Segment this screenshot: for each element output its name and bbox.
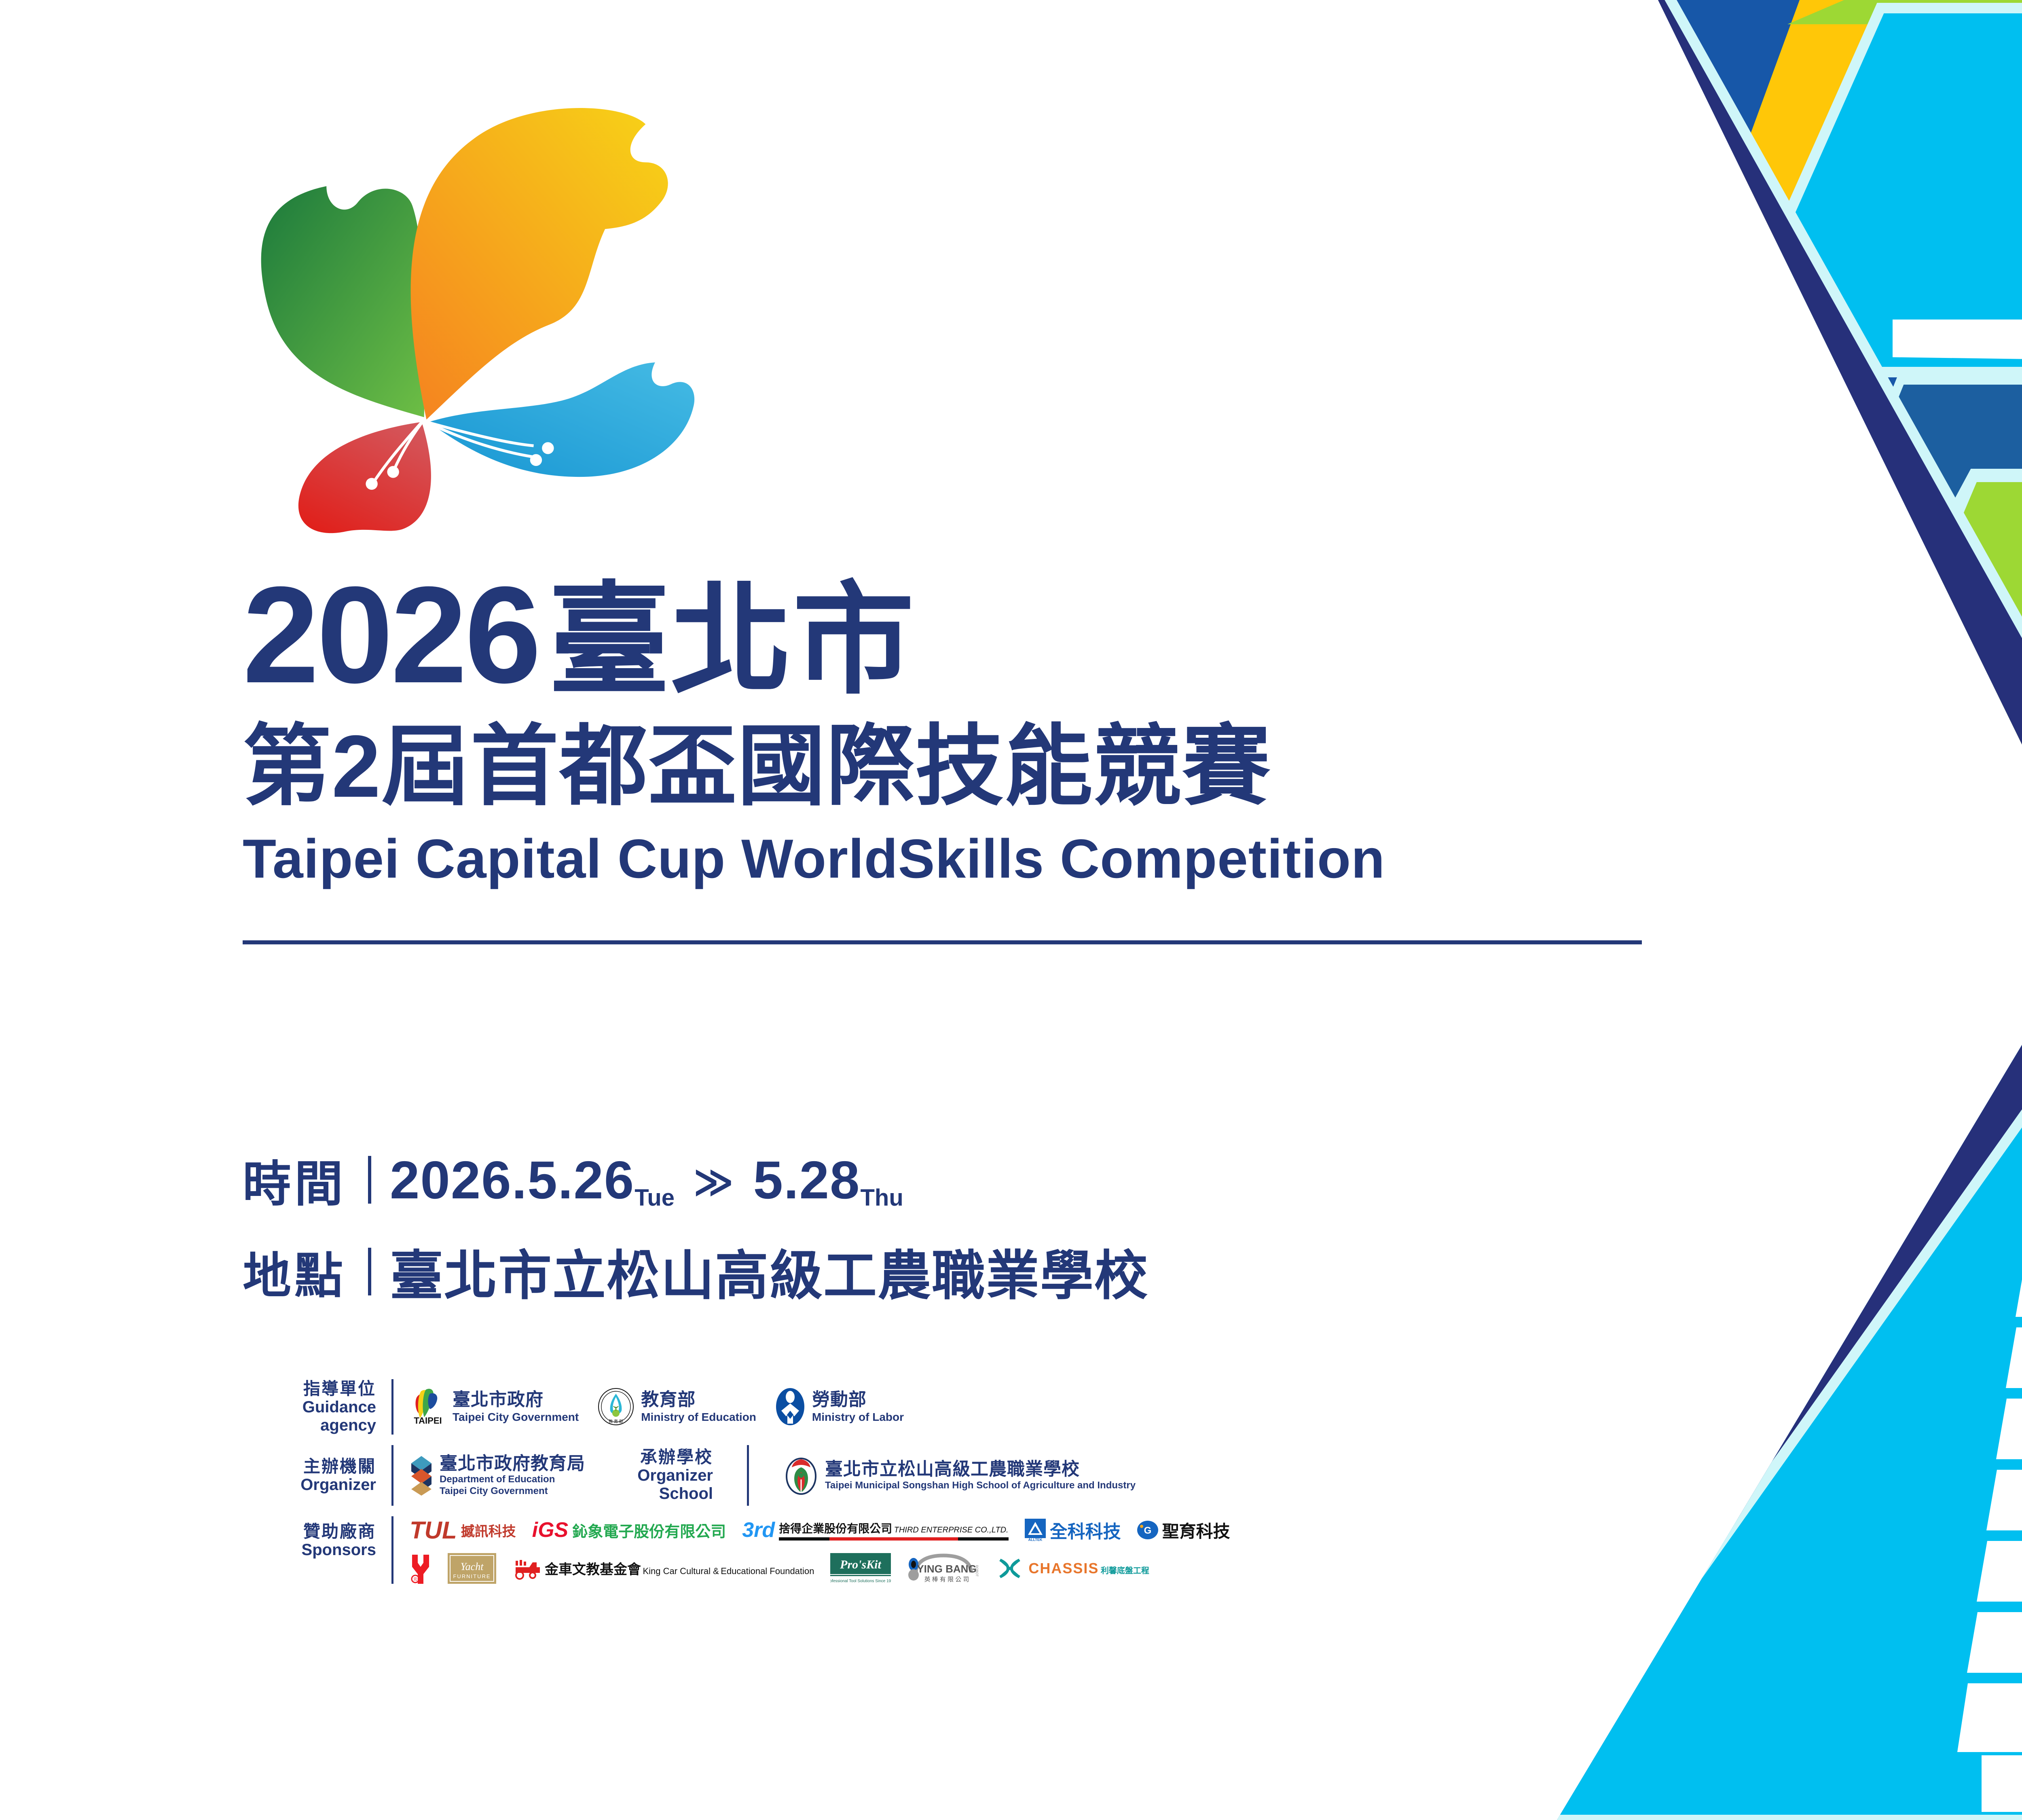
igs-logo: iGS: [532, 1518, 569, 1542]
date-end: 5.28: [753, 1150, 861, 1210]
sponsor-igs: iGS 鈊象電子股份有限公司: [532, 1518, 726, 1542]
date-start: 2026.5.26: [390, 1150, 635, 1210]
sponsors-row: 贊助廠商 Sponsors TUL 撼訊科技 iGS 鈊象電子股份有限公司: [243, 1516, 1739, 1584]
title-city: 臺北市: [548, 572, 915, 708]
king-car-foundation-logo: [512, 1556, 541, 1581]
organizer-label-zh: 主辦機關: [243, 1457, 376, 1476]
svg-text:YING BANG: YING BANG: [917, 1563, 977, 1575]
organizer-school-label-zh: 承辦學校: [604, 1448, 713, 1467]
partner-name-en: Taipei City Government: [453, 1410, 579, 1424]
sponsor-name-en1: King Car Cultural &: [643, 1566, 719, 1576]
svg-text:英 棒 有 限 公 司: 英 棒 有 限 公 司: [924, 1576, 969, 1583]
yuan-logo: 元: [410, 1553, 431, 1584]
sponsors-label: 贊助廠商 Sponsors: [243, 1516, 391, 1559]
event-time-row: 時間 2026.5.26Tue≫5.28Thu: [243, 1145, 1658, 1215]
guidance-label-zh: 指導單位: [243, 1379, 376, 1398]
title-year-city: 2026臺北市: [243, 566, 1658, 704]
chassis-logo: [996, 1556, 1024, 1581]
ministry-of-labor-logo: [775, 1387, 806, 1426]
time-separator: [368, 1156, 371, 1204]
partner-name-zh: 臺北市政府: [453, 1390, 579, 1410]
guidance-divider: [391, 1379, 393, 1435]
guidance-row: 指導單位 Guidance agency TAIPEI: [243, 1379, 1739, 1435]
title-subtitle-en: Taipei Capital Cup WorldSkills Competiti…: [243, 826, 1658, 892]
sponsor-name-zh: 利馨底盤工程: [1101, 1566, 1149, 1575]
guidance-label: 指導單位 Guidance agency: [243, 1379, 391, 1435]
yacht-furniture-logo: Yacht FURNITURE: [448, 1553, 496, 1584]
department-of-education-logo: [410, 1455, 433, 1496]
event-venue-value: 臺北市立松山高級工農職業學校: [390, 1233, 1148, 1310]
organizer-school-label-en: Organizer School: [604, 1467, 713, 1503]
sponsors-label-zh: 贊助廠商: [243, 1522, 376, 1541]
songshan-school-crest: [784, 1455, 819, 1496]
sponsor-ying-bang: YING BANG ROBOT 英 棒 有 限 公 司: [907, 1553, 980, 1584]
alltek-logo: ALLTEK: [1025, 1519, 1046, 1541]
third-enterprise-logo: 3rd: [742, 1518, 775, 1542]
guidance-items: TAIPEI 臺北市政府 Taipei City Government: [410, 1387, 904, 1426]
organizer-school-divider: [747, 1445, 749, 1506]
sponsor-alltek: ALLTEK 全科科技: [1025, 1517, 1121, 1543]
svg-text:元: 元: [413, 1577, 417, 1582]
svg-text:Pro'sKit: Pro'sKit: [840, 1558, 882, 1571]
proskit-logo: Pro'sKit Professional Tool Solutions Sin…: [830, 1553, 891, 1584]
sponsors-label-en: Sponsors: [243, 1541, 376, 1559]
tul-logo: TUL: [410, 1516, 457, 1544]
svg-text:G: G: [1144, 1525, 1151, 1536]
title-block: 2026臺北市 第2屆首都盃國際技能競賽 Taipei Capital Cup …: [243, 566, 1658, 944]
sponsor-shengyu: G 聖育科技: [1137, 1518, 1230, 1543]
partner-name-zh: 教育部: [641, 1390, 756, 1410]
svg-text:ROBOT: ROBOT: [975, 1565, 979, 1577]
sponsor-yuan: 元: [410, 1553, 431, 1584]
svg-text:教 育 部: 教 育 部: [609, 1419, 623, 1424]
day-end: Thu: [860, 1185, 903, 1211]
svg-text:Professional Tool Solutions Si: Professional Tool Solutions Since 1991: [830, 1579, 891, 1583]
emblem-petal-green: [261, 186, 425, 417]
partners-section: 指導單位 Guidance agency TAIPEI: [243, 1379, 1739, 1594]
date-range-arrow: ≫: [693, 1160, 735, 1204]
sponsor-name-zh: 金車文教基金會: [545, 1562, 641, 1577]
third-enterprise-rule: [779, 1537, 1008, 1541]
partner-ministry-of-labor: 勞動部 Ministry of Labor: [775, 1387, 904, 1426]
sponsor-name-zh: 撼訊科技: [461, 1520, 516, 1540]
organizer-label-en: Organizer: [243, 1476, 376, 1494]
svg-text:TAIPEI: TAIPEI: [414, 1416, 442, 1425]
sponsor-name-zh: 全科科技: [1050, 1517, 1121, 1543]
sponsor-name-en: CHASSIS: [1028, 1560, 1099, 1577]
partner-songshan-high-school: 臺北市立松山高級工農職業學校 Taipei Municipal Songshan…: [784, 1455, 1136, 1496]
partner-taipei-city-government: TAIPEI 臺北市政府 Taipei City Government: [410, 1388, 579, 1425]
sponsor-king-car-foundation: 金車文教基金會 King Car Cultural & Educational …: [512, 1556, 814, 1581]
poster-content: 2026臺北市 第2屆首都盃國際技能競賽 Taipei Capital Cup …: [0, 0, 1739, 1820]
organizer-items: 臺北市政府教育局 Department of Education Taipei …: [410, 1445, 1136, 1506]
partner-name-en: Ministry of Education: [641, 1410, 756, 1424]
sponsors-divider: [391, 1516, 393, 1584]
event-venue-label: 地點: [243, 1236, 364, 1307]
sponsor-third-enterprise: 3rd 捨得企業股份有限公司 THIRD ENTERPRISE CO.,LTD.: [742, 1518, 1008, 1542]
sponsor-yacht-furniture: Yacht FURNITURE: [448, 1553, 496, 1584]
sponsors-row-2: 元 Yacht FURNITURE: [410, 1553, 1230, 1584]
partner-name-en1: Department of Education: [440, 1474, 585, 1486]
sponsor-tul: TUL 撼訊科技: [410, 1516, 516, 1544]
event-info: 時間 2026.5.26Tue≫5.28Thu 地點 臺北市立松山高級工農職業學…: [243, 1145, 1658, 1328]
ying-bang-logo: YING BANG ROBOT 英 棒 有 限 公 司: [907, 1553, 980, 1584]
sponsors-items: TUL 撼訊科技 iGS 鈊象電子股份有限公司 3rd 捨得企業股份有限公司 T…: [410, 1516, 1230, 1584]
venue-separator: [368, 1248, 371, 1295]
sponsor-name-en2: Educational Foundation: [721, 1566, 814, 1576]
poster-root: 2026 TAIPEI: [0, 0, 2022, 1820]
title-year: 2026: [243, 558, 539, 712]
event-time-label: 時間: [243, 1145, 364, 1215]
organizer-divider: [391, 1445, 393, 1506]
partner-name-zh: 臺北市立松山高級工農職業學校: [825, 1459, 1136, 1480]
partner-department-of-education: 臺北市政府教育局 Department of Education Taipei …: [410, 1454, 585, 1497]
event-time-value: 2026.5.26Tue≫5.28Thu: [390, 1149, 903, 1211]
sponsors-row-1: TUL 撼訊科技 iGS 鈊象電子股份有限公司 3rd 捨得企業股份有限公司 T…: [410, 1516, 1230, 1544]
title-divider: [243, 940, 1642, 944]
organizer-school-label: 承辦學校 Organizer School: [604, 1448, 728, 1503]
guidance-label-en: Guidance agency: [243, 1398, 376, 1435]
organizer-label: 主辦機關 Organizer: [243, 1457, 391, 1494]
partner-name-en2: Taipei City Government: [440, 1486, 585, 1497]
sponsor-proskit: Pro'sKit Professional Tool Solutions Sin…: [830, 1553, 891, 1584]
sponsor-name-en: THIRD ENTERPRISE CO.,LTD.: [894, 1526, 1009, 1534]
partner-ministry-of-education: 教 育 部 教育部 Ministry of Education: [597, 1388, 756, 1425]
sponsor-name-zh: 鈊象電子股份有限公司: [572, 1519, 726, 1541]
event-venue-row: 地點 臺北市立松山高級工農職業學校: [243, 1233, 1658, 1310]
partner-name-zh: 勞動部: [812, 1390, 904, 1410]
svg-text:ALLTEK: ALLTEK: [1028, 1538, 1042, 1541]
partner-name-zh: 臺北市政府教育局: [440, 1454, 585, 1474]
shengyu-logo: G: [1137, 1520, 1158, 1540]
taipei-capital-cup-emblem: [243, 105, 720, 534]
sponsor-name-zh: 捨得企業股份有限公司: [779, 1522, 892, 1535]
svg-text:FURNITURE: FURNITURE: [453, 1573, 491, 1579]
title-subtitle-zh: 第2屆首都盃國際技能競賽: [243, 717, 1658, 816]
svg-text:Yacht: Yacht: [461, 1561, 484, 1572]
taipei-city-logo: TAIPEI: [410, 1388, 446, 1425]
day-start: Tue: [635, 1185, 675, 1211]
sponsor-name-zh: 聖育科技: [1162, 1518, 1230, 1543]
sponsor-chassis: CHASSIS 利馨底盤工程: [996, 1556, 1149, 1581]
organizer-row: 主辦機關 Organizer: [243, 1445, 1739, 1506]
partner-name-en: Ministry of Labor: [812, 1410, 904, 1424]
ministry-of-education-seal: 教 育 部: [597, 1388, 635, 1425]
partner-name-en: Taipei Municipal Songshan High School of…: [825, 1480, 1136, 1492]
